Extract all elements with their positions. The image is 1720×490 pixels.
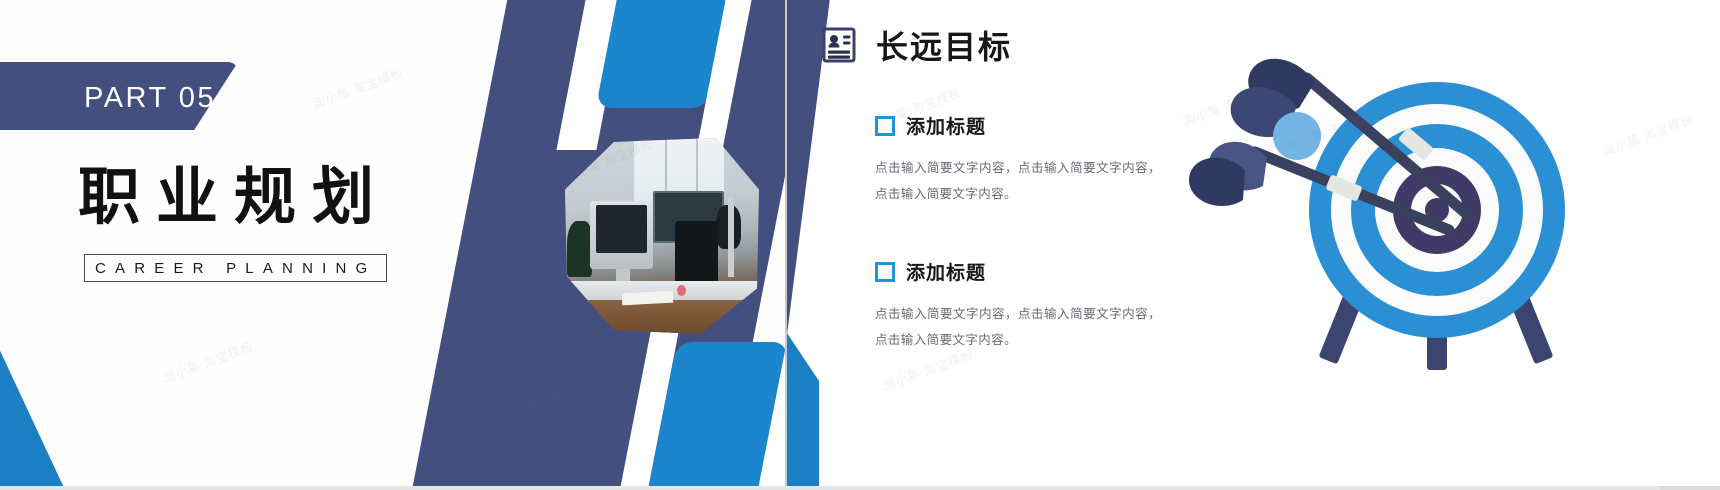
bottom-edge-strip-right — [1660, 486, 1720, 490]
content-block-body: 点击输入简要文字内容，点击输入简要文字内容，点击输入简要文字内容。 — [875, 301, 1161, 352]
content-block-head: 添加标题 — [875, 258, 1175, 285]
section-title: 长远目标 — [876, 22, 1012, 68]
dartboard-illustration — [1187, 40, 1707, 370]
content-block-title: 添加标题 — [906, 112, 986, 139]
photo-chair — [675, 221, 718, 284]
content-blocks: 添加标题 点击输入简要文字内容，点击输入简要文字内容，点击输入简要文字内容。 添… — [875, 112, 1175, 405]
page-subtitle: CAREER PLANNING — [95, 260, 376, 277]
content-block: 添加标题 点击输入简要文字内容，点击输入简要文字内容，点击输入简要文字内容。 — [875, 112, 1175, 206]
photo-lamp — [728, 197, 734, 276]
content-block-head: 添加标题 — [875, 112, 1175, 139]
content-block-body: 点击输入简要文字内容，点击输入简要文字内容，点击输入简要文字内容。 — [875, 155, 1161, 206]
blue-corner-wedge — [787, 330, 819, 486]
right-slide: 长远目标 添加标题 点击输入简要文字内容，点击输入简要文字内容，点击输入简要文字… — [787, 0, 1720, 486]
subtitle-box: CAREER PLANNING — [84, 254, 387, 282]
geometric-band-group — [455, 0, 785, 486]
square-outline-bullet-icon — [875, 262, 895, 282]
bottom-left-blue-triangle — [0, 252, 66, 486]
content-block-title: 添加标题 — [906, 258, 986, 285]
content-block: 添加标题 点击输入简要文字内容，点击输入简要文字内容，点击输入简要文字内容。 — [875, 258, 1175, 352]
dartboard-rings — [1309, 82, 1565, 338]
square-outline-bullet-icon — [875, 116, 895, 136]
id-card-icon — [822, 26, 856, 64]
section-header: 长远目标 — [822, 22, 1012, 68]
photo-imac-screen — [596, 205, 647, 253]
bottom-edge-strip — [0, 486, 1720, 490]
part-label: PART 05 — [84, 82, 216, 115]
photo-plant — [567, 221, 592, 276]
left-slide: PART 05 职业规划 CAREER PLANNING — [0, 0, 785, 486]
slide-divider — [785, 0, 787, 490]
slide-pair-canvas: PART 05 职业规划 CAREER PLANNING 长远目标 — [0, 0, 1720, 490]
page-title: 职业规划 — [78, 166, 390, 228]
